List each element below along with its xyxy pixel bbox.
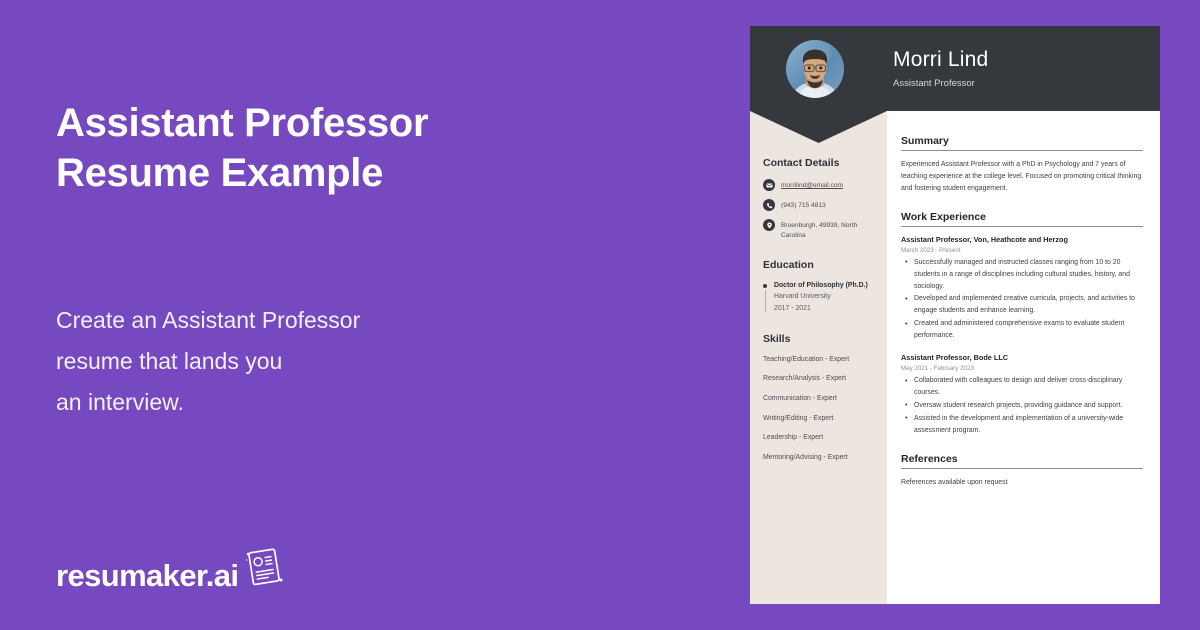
contact-item-location: Bruenburgh, 49939, North Carolina [763, 219, 874, 240]
resume-header: Morri Lind Assistant Professor [750, 26, 1160, 111]
logo-wordmark: resumaker.ai [56, 558, 238, 594]
skill-item: Leadership - Expert [763, 433, 874, 443]
location-pin-icon [763, 219, 775, 231]
promo-canvas: Assistant Professor Resume Example Creat… [0, 0, 1200, 630]
education-timeline-rail [763, 281, 772, 313]
page-title: Assistant Professor Resume Example [56, 98, 428, 198]
resume-document-icon [242, 547, 284, 592]
summary-section: Summary Experienced Assistant Professor … [901, 135, 1143, 195]
skill-item: Research/Analysis - Expert [763, 374, 874, 384]
job-entry: Assistant Professor, Von, Heathcote and … [901, 235, 1143, 342]
phone-icon [763, 199, 775, 211]
promo-panel: Assistant Professor Resume Example Creat… [56, 0, 676, 630]
job-date: March 2023 - Present [901, 247, 1143, 254]
summary-text: Experienced Assistant Professor with a P… [901, 159, 1143, 195]
envelope-icon [763, 179, 775, 191]
skills-section: Skills Teaching/Education - Expert Resea… [763, 333, 874, 463]
resume-main-column: Summary Experienced Assistant Professor … [887, 111, 1160, 604]
references-heading: References [901, 453, 1143, 469]
work-experience-section: Work Experience Assistant Professor, Von… [901, 211, 1143, 437]
resume-preview-card[interactable]: Morri Lind Assistant Professor Contact D… [750, 26, 1160, 604]
contact-heading: Contact Details [763, 157, 874, 169]
job-bullet: Oversaw student research projects, provi… [901, 400, 1143, 412]
work-experience-heading: Work Experience [901, 211, 1143, 227]
contact-item-phone: (943) 715 4813 [763, 199, 874, 211]
contact-location-value: Bruenburgh, 49939, North Carolina [781, 219, 874, 240]
page-subtitle: Create an Assistant Professor resume tha… [56, 300, 360, 423]
job-bullet: Created and administered comprehensive e… [901, 318, 1143, 342]
summary-heading: Summary [901, 135, 1143, 151]
contact-phone-value: (943) 715 4813 [781, 199, 826, 211]
education-school: Harvard University [774, 291, 868, 302]
contact-details-section: Contact Details morrilind@email.com [763, 157, 874, 240]
job-title: Assistant Professor, Bode LLC [901, 353, 1143, 363]
job-entry: Assistant Professor, Bode LLC May 2021 -… [901, 353, 1143, 437]
contact-item-email[interactable]: morrilind@email.com [763, 179, 874, 191]
skill-item: Mentoring/Advising - Expert [763, 453, 874, 463]
contact-email-value[interactable]: morrilind@email.com [781, 179, 843, 191]
education-years: 2017 - 2021 [774, 303, 868, 314]
resume-body: Contact Details morrilind@email.com [750, 111, 1160, 604]
resume-name: Morri Lind [893, 48, 988, 71]
resume-identity: Morri Lind Assistant Professor [893, 48, 988, 89]
timeline-dot-icon [763, 284, 767, 288]
education-degree: Doctor of Philosophy (Ph.D.) [774, 281, 868, 291]
skill-item: Teaching/Education - Expert [763, 355, 874, 365]
job-date: May 2021 - February 2023 [901, 365, 1143, 372]
timeline-line [765, 290, 766, 311]
education-details: Doctor of Philosophy (Ph.D.) Harvard Uni… [772, 281, 868, 313]
references-section: References References available upon req… [901, 453, 1143, 489]
job-title: Assistant Professor, Von, Heathcote and … [901, 235, 1143, 245]
job-bullet: Successfully managed and instructed clas… [901, 257, 1143, 293]
job-bullet: Assisted in the development and implemen… [901, 413, 1143, 437]
resume-sidebar: Contact Details morrilind@email.com [750, 111, 887, 604]
references-text: References available upon request [901, 477, 1143, 489]
job-bullet-list: Collaborated with colleagues to design a… [901, 375, 1143, 436]
resumaker-logo[interactable]: resumaker.ai [56, 547, 284, 594]
skill-item: Writing/Editing - Expert [763, 414, 874, 424]
resume-role: Assistant Professor [893, 78, 988, 89]
header-chevron-notch [750, 111, 887, 143]
education-section: Education Doctor of Philosophy (Ph.D.) H… [763, 259, 874, 313]
avatar [786, 40, 844, 98]
job-bullet: Developed and implemented creative curri… [901, 293, 1143, 317]
skills-heading: Skills [763, 333, 874, 345]
job-bullet-list: Successfully managed and instructed clas… [901, 257, 1143, 342]
skill-item: Communication - Expert [763, 394, 874, 404]
job-bullet: Collaborated with colleagues to design a… [901, 375, 1143, 399]
education-heading: Education [763, 259, 874, 271]
education-item: Doctor of Philosophy (Ph.D.) Harvard Uni… [763, 281, 874, 313]
